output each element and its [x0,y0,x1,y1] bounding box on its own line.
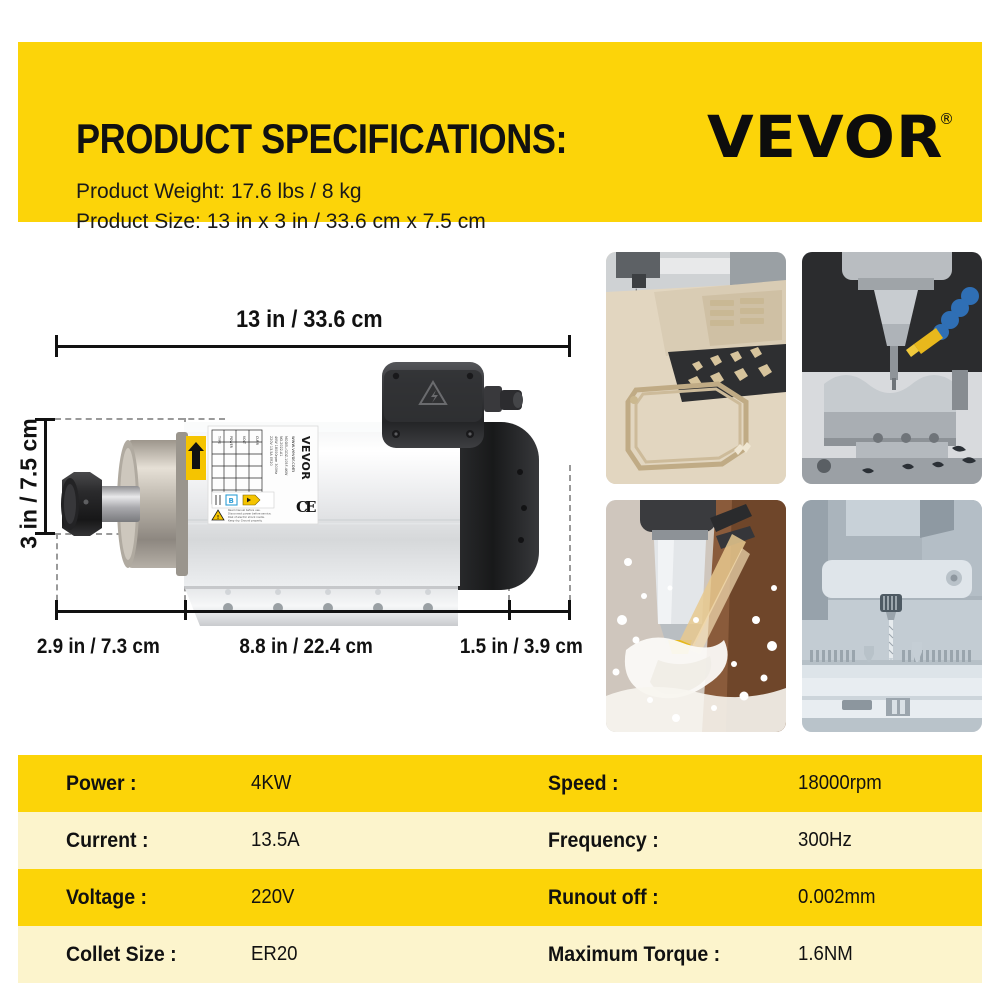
photo-metal-milling-coolant [802,252,982,484]
svg-text:!: ! [217,515,219,521]
svg-text:E: E [305,498,316,516]
header-banner: PRODUCT SPECIFICATIONS: Product Weight: … [18,42,982,222]
segment-tick-2 [184,600,187,620]
product-weight-line: Product Weight: 17.6 lbs / 8 kg [76,180,362,204]
segment-tick-3 [508,600,511,620]
table-row: Power : 4KW Speed : 18000rpm [18,755,982,812]
dimension-label-body: 8.8 in / 22.4 cm [239,635,372,659]
spec-key-frequency: Frequency : [548,829,781,853]
spec-value-power: 4KW [251,772,442,795]
application-photo-grid [606,252,982,740]
spec-value-runout: 0.002mm [798,886,969,909]
product-spec-page: PRODUCT SPECIFICATIONS: Product Weight: … [0,0,1000,1000]
spec-value-voltage: 220V [251,886,442,909]
table-row: Voltage : 220V Runout off : 0.002mm [18,869,982,926]
segment-tick-4 [568,600,571,620]
dimension-label-rear: 1.5 in / 3.9 cm [460,635,583,659]
photo-cnc-wood-routing [606,252,786,484]
photo-coolant-spray-machining [606,500,786,732]
svg-text:NO.2022-A1: NO.2022-A1 [279,436,283,456]
page-title: PRODUCT SPECIFICATIONS: [76,115,567,163]
table-row: Current : 13.5A Frequency : 300Hz [18,812,982,869]
specification-table: Power : 4KW Speed : 18000rpm Current : 1… [18,755,982,983]
spec-value-max-torque: 1.6NM [798,943,969,966]
svg-text:CURR: CURR [255,436,259,446]
spec-value-speed: 18000rpm [798,772,969,795]
segment-tick-1 [55,600,58,620]
spec-value-collet-size: ER20 [251,943,442,966]
product-spec-sticker: VEVOR www.vevor.com MODEL:GDZ-105F-4KW N… [208,426,318,524]
spec-value-current: 13.5A [251,829,442,852]
svg-text:Keep dry. Ground properly.: Keep dry. Ground properly. [228,519,263,523]
svg-text:VEVOR: VEVOR [299,436,312,480]
table-row: Collet Size : ER20 Maximum Torque : 1.6N… [18,926,982,983]
svg-text:POWER: POWER [229,436,233,449]
brand-logo-text: VEVOR [707,108,943,166]
svg-text:Read manual before use.: Read manual before use. [228,508,261,512]
spec-key-voltage: Voltage : [66,886,238,910]
spindle-motor-illustration: VEVOR www.vevor.com MODEL:GDZ-105F-4KW N… [0,240,592,750]
svg-text:MODEL:GDZ-105F-4KW: MODEL:GDZ-105F-4KW [284,436,288,476]
svg-text:Disconnect power before servic: Disconnect power before service. [228,512,272,516]
svg-text:Risk of electric shock inside.: Risk of electric shock inside. [228,515,265,519]
svg-text:220V 13.5A ER20: 220V 13.5A ER20 [269,436,273,466]
dimension-line-segments [55,610,571,613]
spec-key-speed: Speed : [548,772,781,796]
svg-text:TYPE: TYPE [217,435,221,444]
svg-text:www.vevor.com: www.vevor.com [290,436,296,473]
spec-key-runout: Runout off : [548,886,781,910]
spec-key-max-torque: Maximum Torque : [548,943,781,967]
product-size-line: Product Size: 13 in x 3 in / 33.6 cm x 7… [76,210,486,234]
svg-text:VOLT: VOLT [242,436,246,444]
dimension-label-nose: 2.9 in / 7.3 cm [37,635,160,659]
spec-value-frequency: 300Hz [798,829,969,852]
photo-pcb-drilling [802,500,982,732]
svg-text:B: B [229,497,234,505]
svg-text:4KW 18000rpm 300Hz: 4KW 18000rpm 300Hz [274,436,278,474]
spec-key-collet-size: Collet Size : [66,943,238,967]
spec-key-power: Power : [66,772,238,796]
spec-key-current: Current : [66,829,238,853]
brand-logo: VEVOR ® [707,108,954,166]
product-dimension-diagram: 13 in / 33.6 cm 3 in / 7.5 cm [0,240,592,750]
